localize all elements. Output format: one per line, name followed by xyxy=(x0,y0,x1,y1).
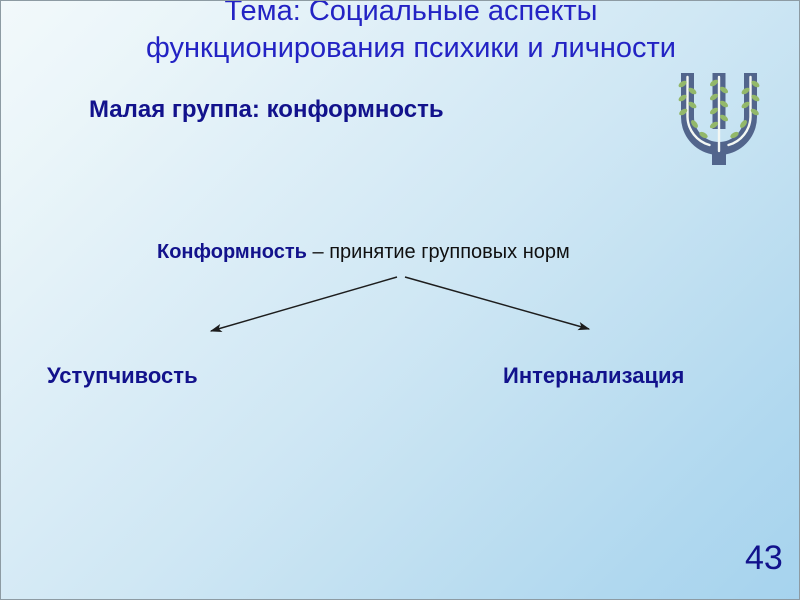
branch-label-compliance: Уступчивость xyxy=(47,363,198,389)
arrow-down-left-line xyxy=(211,277,397,331)
branch-label-internalization: Интернализация xyxy=(503,363,684,389)
definition-description: – принятие групповых норм xyxy=(307,241,570,263)
definition-term: Конформность xyxy=(157,241,307,263)
slide-title-line-2: функционирования психики и личности xyxy=(61,30,761,67)
psi-branches-logo xyxy=(673,69,765,165)
definition-line: Конформность – принятие групповых норм xyxy=(157,241,570,264)
slide-title: Тема: Социальные аспекты функционировани… xyxy=(61,0,761,67)
arrow-down-right-line xyxy=(405,277,589,329)
slide-subtitle: Малая группа: конформность xyxy=(89,96,444,124)
page-number: 43 xyxy=(745,539,793,577)
slide-title-line-1: Тема: Социальные аспекты xyxy=(61,0,761,30)
slide-canvas: Тема: Социальные аспекты функционировани… xyxy=(0,0,800,600)
